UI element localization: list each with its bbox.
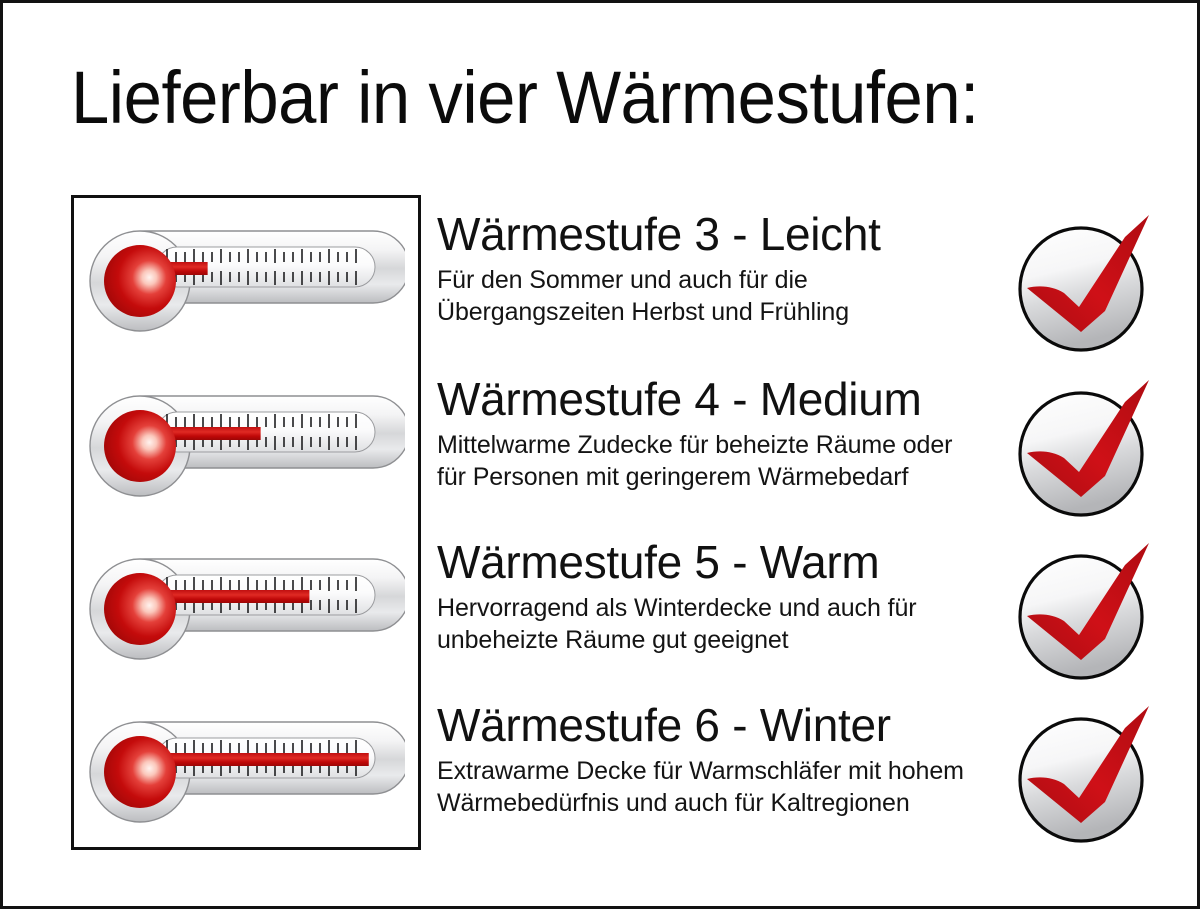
check-mark-icon <box>1009 698 1161 850</box>
level-text: Wärmestufe 6 - Winter Extrawarme Decke f… <box>437 698 977 819</box>
level-row: Wärmestufe 3 - Leicht Für den Sommer und… <box>3 199 1200 359</box>
level-description-line1: Für den Sommer und auch für die <box>437 264 977 296</box>
level-description-line2: Wärmebedürfnis und auch für Kaltregionen <box>437 787 977 819</box>
level-heading: Wärmestufe 3 - Leicht <box>437 207 977 261</box>
level-description-line1: Hervorragend als Winterdecke und auch fü… <box>437 592 977 624</box>
thermometer-icon <box>85 549 405 669</box>
check-mark-icon <box>1009 535 1161 687</box>
thermometer-icon <box>85 221 405 341</box>
level-description-line2: Übergangszeiten Herbst und Frühling <box>437 296 977 328</box>
thermometer-icon <box>85 386 405 506</box>
thermometer-fill <box>147 753 369 766</box>
level-heading: Wärmestufe 5 - Warm <box>437 535 977 589</box>
infographic-page: Lieferbar in vier Wärmestufen: <box>0 0 1200 909</box>
level-row: Wärmestufe 6 - Winter Extrawarme Decke f… <box>3 690 1200 850</box>
level-description-line1: Extrawarme Decke für Warmschläfer mit ho… <box>437 755 977 787</box>
level-heading: Wärmestufe 6 - Winter <box>437 698 977 752</box>
level-heading: Wärmestufe 4 - Medium <box>437 372 977 426</box>
page-title: Lieferbar in vier Wärmestufen: <box>71 57 979 139</box>
level-text: Wärmestufe 4 - Medium Mittelwarme Zudeck… <box>437 372 977 493</box>
level-description-line1: Mittelwarme Zudecke für beheizte Räume o… <box>437 429 977 461</box>
level-text: Wärmestufe 3 - Leicht Für den Sommer und… <box>437 207 977 328</box>
level-row: Wärmestufe 5 - Warm Hervorragend als Win… <box>3 527 1200 687</box>
check-mark-icon <box>1009 372 1161 524</box>
thermometer-icon <box>85 712 405 832</box>
level-description-line2: unbeheizte Räume gut geeignet <box>437 624 977 656</box>
check-mark-icon <box>1009 207 1161 359</box>
level-row: Wärmestufe 4 - Medium Mittelwarme Zudeck… <box>3 364 1200 524</box>
level-text: Wärmestufe 5 - Warm Hervorragend als Win… <box>437 535 977 656</box>
level-description-line2: für Personen mit geringerem Wärmebedarf <box>437 461 977 493</box>
